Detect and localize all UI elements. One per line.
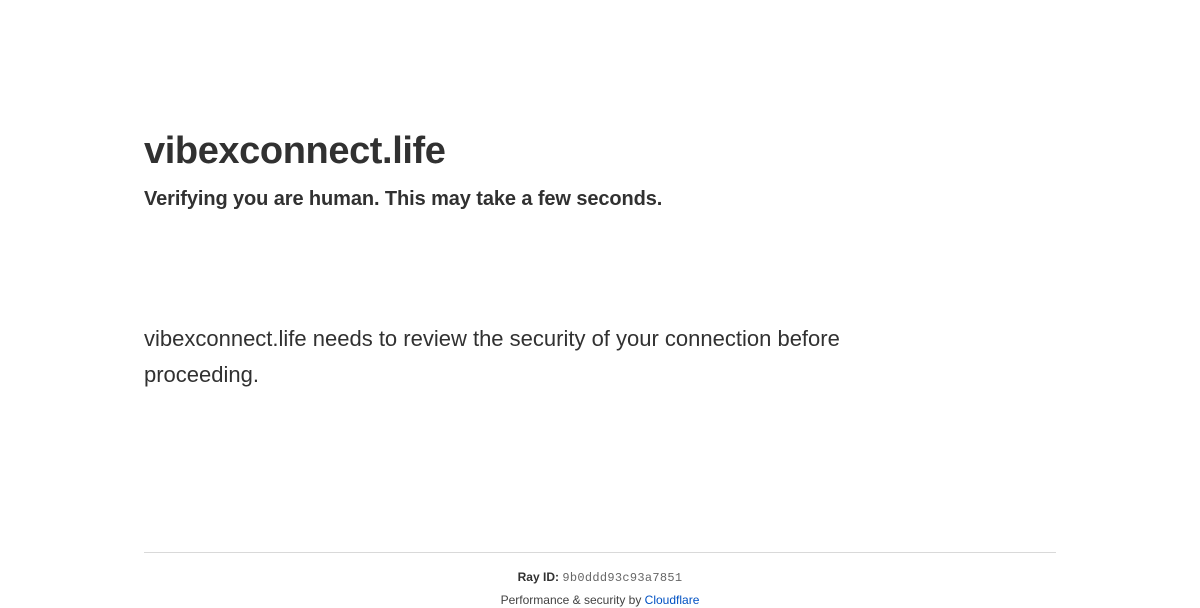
cloudflare-link[interactable]: Cloudflare	[645, 593, 700, 607]
turnstile-widget[interactable]	[144, 238, 444, 303]
ray-id-label: Ray ID:	[518, 570, 559, 584]
ray-id-line: Ray ID: 9b0ddd93c93a7851	[144, 569, 1056, 586]
challenge-description: vibexconnect.life needs to review the se…	[144, 321, 944, 393]
challenge-main: vibexconnect.life Verifying you are huma…	[144, 0, 1056, 393]
challenge-content: vibexconnect.life Verifying you are huma…	[144, 0, 1056, 393]
ray-id-value: 9b0ddd93c93a7851	[562, 571, 682, 585]
attribution-text: Performance & security by	[501, 593, 642, 607]
page-title: vibexconnect.life	[144, 128, 1056, 174]
challenge-subheading: Verifying you are human. This may take a…	[144, 186, 1056, 212]
challenge-page: vibexconnect.life Verifying you are huma…	[0, 0, 1200, 600]
attribution-line: Performance & security by Cloudflare	[144, 592, 1056, 608]
